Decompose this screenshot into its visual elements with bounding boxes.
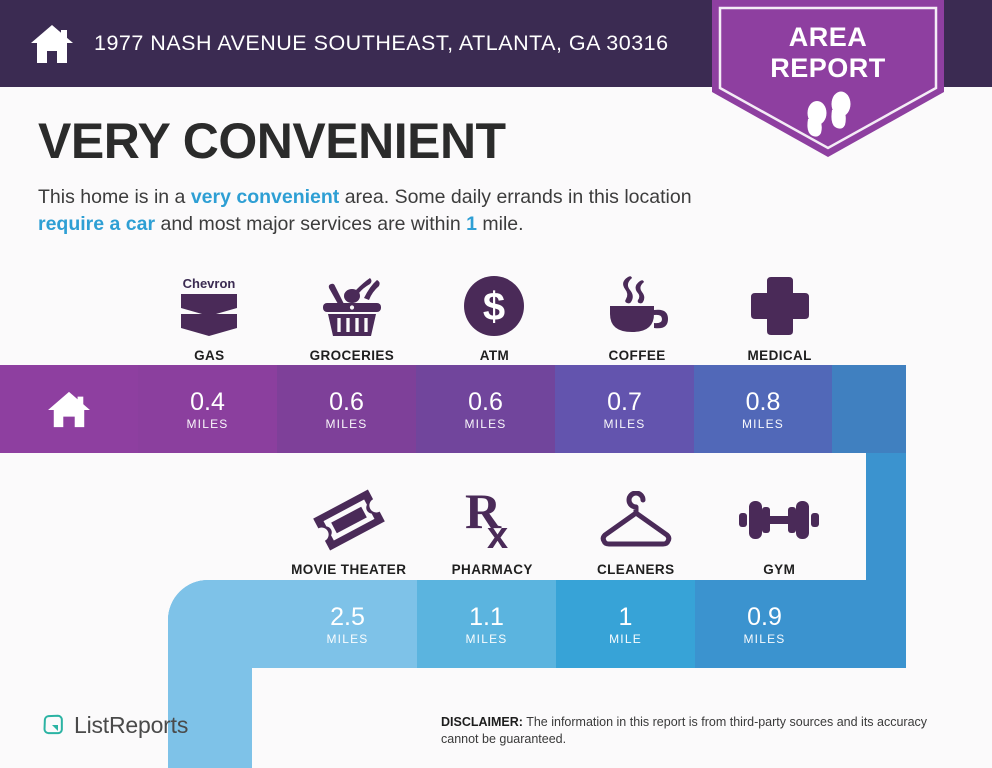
home-marker-cell [0,365,138,453]
summary-highlight-1: very convenient [191,186,339,208]
house-icon [46,389,92,429]
medical-cross-icon [749,273,811,339]
distance-unit: MILES [742,417,784,431]
amenity-label: MEDICAL [748,348,812,363]
distance-unit: MILES [325,417,367,431]
badge-line-2: REPORT [712,53,944,84]
distance-bar-row-2: 2.5 MILES 1.1 MILES 1 MILE 0.9 MILES [168,580,906,668]
amenity-label: GROCERIES [310,348,395,363]
amenity-coffee: COFFEE [566,258,709,363]
distance-value: 1.1 [469,603,504,631]
summary-text-1: This home is in a [38,186,191,208]
amenity-medical: MEDICAL [708,258,851,363]
distance-cell-pharmacy: 1.1 MILES [417,580,556,668]
summary-paragraph: This home is in a very convenient area. … [38,184,718,238]
listreports-tag-icon [40,713,66,739]
area-report-badge: AREA REPORT [712,0,944,160]
distance-cell-coffee: 0.7 MILES [555,365,694,453]
summary-highlight-2: require a car [38,213,155,235]
amenity-groceries: GROCERIES [281,258,424,363]
badge-line-1: AREA [712,22,944,53]
distance-unit: MILES [326,632,368,646]
distance-unit: MILES [603,417,645,431]
distance-value: 0.6 [329,388,364,416]
chevron-gas-logo-icon: Chevron [171,273,247,339]
title-block: VERY CONVENIENT This home is in a very c… [38,112,718,238]
summary-text-2: area. Some daily errands in this locatio… [339,186,691,208]
row2-tail [834,580,906,668]
distance-ribbon: 0.4 MILES 0.6 MILES 0.6 MILES 0.7 MILES … [0,365,992,768]
house-icon [28,20,76,68]
listreports-logo[interactable]: ListReports [40,712,188,739]
distance-cell-gym: 0.9 MILES [695,580,834,668]
distance-unit: MILES [464,417,506,431]
grocery-basket-icon [316,273,388,339]
distance-cell-movie-theater: 2.5 MILES [278,580,417,668]
distance-value: 0.4 [190,388,225,416]
coffee-cup-icon [602,273,672,339]
summary-highlight-3: 1 [466,213,477,235]
amenity-gas: Chevron GAS [138,258,281,363]
distance-cell-medical: 0.8 MILES [694,365,832,453]
summary-text-3: and most major services are within [155,213,466,235]
disclaimer: DISCLAIMER: The information in this repo… [441,714,961,748]
distance-cell-cleaners: 1 MILE [556,580,695,668]
page-title: VERY CONVENIENT [38,112,718,170]
svg-text:$: $ [483,285,505,329]
distance-value: 0.7 [607,388,642,416]
distance-cell-groceries: 0.6 MILES [277,365,416,453]
summary-text-4: mile. [477,213,524,235]
logo-text: ListReports [74,712,188,739]
distance-unit: MILE [609,632,642,646]
distance-cell-gas: 0.4 MILES [138,365,277,453]
area-report-infographic: 1977 NASH AVENUE SOUTHEAST, ATLANTA, GA … [0,0,992,768]
distance-value: 1 [619,603,633,631]
row2-head [168,580,278,668]
amenity-label: GAS [194,348,224,363]
amenity-label: COFFEE [609,348,666,363]
amenity-icon-row-1: Chevron GAS [138,258,851,363]
distance-unit: MILES [186,417,228,431]
row1-tail [832,365,906,453]
header-content: 1977 NASH AVENUE SOUTHEAST, ATLANTA, GA … [28,0,669,87]
distance-value: 0.6 [468,388,503,416]
disclaimer-label: DISCLAIMER: [441,715,523,729]
distance-bar-row-1: 0.4 MILES 0.6 MILES 0.6 MILES 0.7 MILES … [0,365,906,453]
distance-unit: MILES [743,632,785,646]
property-address: 1977 NASH AVENUE SOUTHEAST, ATLANTA, GA … [94,31,669,56]
dollar-circle-icon: $ [462,273,526,339]
distance-unit: MILES [465,632,507,646]
distance-cell-atm: 0.6 MILES [416,365,555,453]
distance-value: 0.9 [747,603,782,631]
amenity-atm: $ ATM [423,258,566,363]
amenity-label: ATM [480,348,509,363]
distance-value: 0.8 [746,388,781,416]
svg-text:Chevron: Chevron [183,276,236,291]
distance-value: 2.5 [330,603,365,631]
